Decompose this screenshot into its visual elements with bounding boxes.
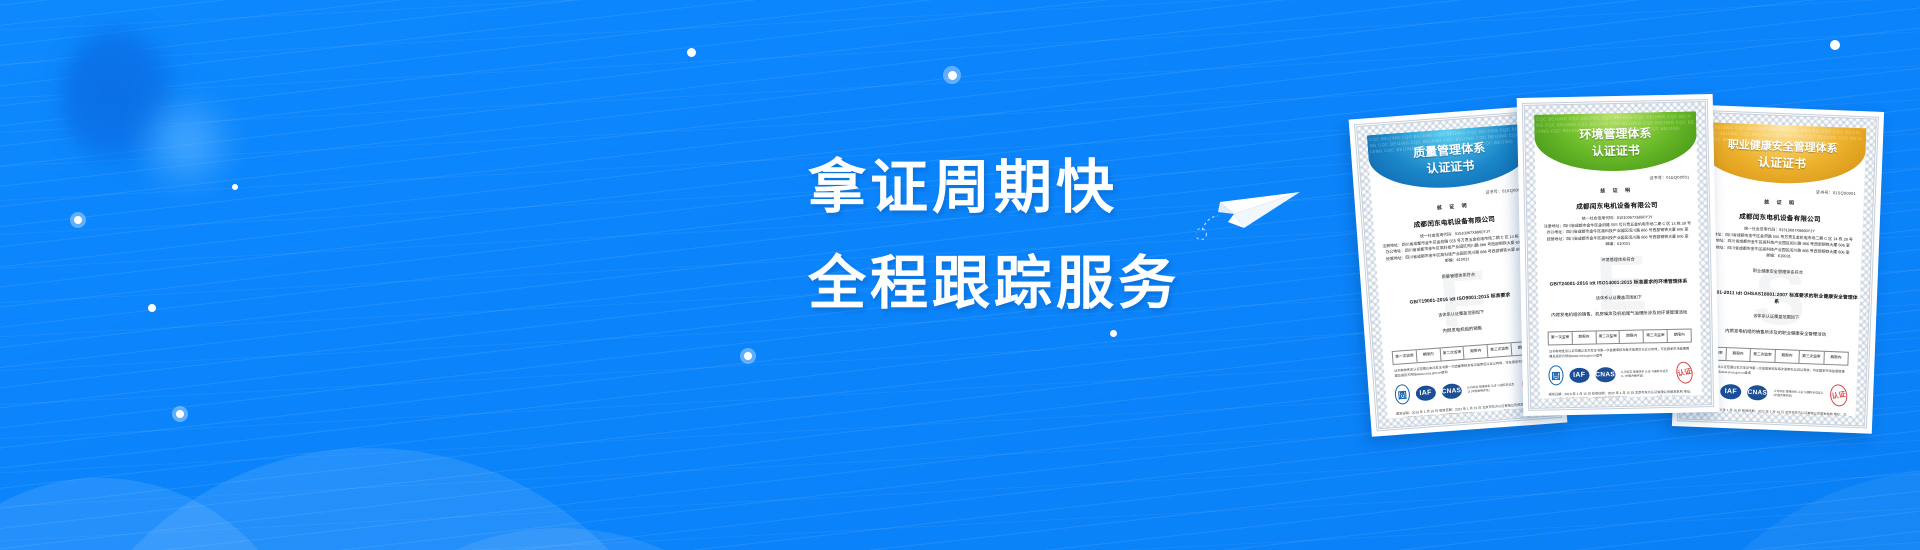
certificate-title-line-2: 认证证书 bbox=[1758, 153, 1807, 172]
decorative-dot bbox=[232, 184, 238, 190]
certificate-scope-label: 该体系认证覆盖范围如下 bbox=[1380, 305, 1542, 323]
decorative-dot bbox=[1830, 40, 1840, 50]
hero-banner: 拿证周期快 全程跟踪服务 CQC BEIJING CQC BEIJING CQC… bbox=[0, 0, 1920, 550]
table-cell: 第二次监审 bbox=[1596, 331, 1620, 343]
red-seal-icon: 认证 bbox=[1674, 360, 1695, 385]
certificate-mgmt-label: 质量管理体系符合 bbox=[1377, 267, 1539, 285]
decorative-dot-ring bbox=[943, 66, 961, 84]
certificate-company-name: 成都闰东电机设备有限公司 bbox=[1536, 198, 1698, 211]
accreditation-side-text: 认可标志 管理体系 认证 与国际多边互认 (中国合格评定) bbox=[1773, 389, 1824, 399]
certificate-header-band: CQC BEIJING CQC BEIJING CQC BEIJING CQC … bbox=[1367, 123, 1533, 193]
cnas-logo-icon: CNAS bbox=[1747, 385, 1768, 401]
headline-line-2: 全程跟踪服务 bbox=[808, 236, 1180, 332]
table-cell: 期限内 bbox=[1417, 348, 1442, 362]
iaf-logo-icon: IAF bbox=[1415, 385, 1436, 401]
certificate-scope-label: 该体系认证覆盖范围如下 bbox=[1538, 293, 1700, 302]
certificate-attest-label: 兹 证 明 bbox=[1536, 185, 1698, 195]
decorative-dot bbox=[687, 48, 696, 57]
certificate-company-details: 统一社会信用代码：91510067X6660YJY 注册地址：四川省成都市金牛区… bbox=[1695, 224, 1862, 263]
certificate-header-band: CQC BEIJING CQC BEIJING CQC BEIJING CQC … bbox=[1698, 122, 1866, 186]
table-cell: 第三次监审 bbox=[1644, 330, 1668, 342]
red-seal-icon: 认证 bbox=[1829, 383, 1849, 408]
table-cell: 第二次监审 bbox=[1440, 347, 1465, 361]
table-cell: 期限内 bbox=[1726, 348, 1751, 361]
cqc-logo-icon: 圆 bbox=[1394, 384, 1410, 405]
certificate-group: CQC BEIJING CQC BEIJING CQC BEIJING CQC … bbox=[1360, 60, 1900, 490]
decorative-dot bbox=[148, 304, 156, 312]
certificate-scope-label: 该体系认证覆盖范围如下 bbox=[1693, 311, 1859, 323]
cnas-logo-icon: CNAS bbox=[1595, 367, 1615, 382]
certificate-mgmt-label: 环境管理体系符合 bbox=[1537, 255, 1699, 264]
certificate-scope: 内燃发电机组的销售、机房噪声及机组尾气治理所涉及的环境管理活动 bbox=[1538, 308, 1700, 318]
iaf-logo-icon: IAF bbox=[1569, 367, 1589, 382]
table-cell: 期限内 bbox=[1620, 330, 1644, 342]
certificate-standard: GB/T19001-2016 idt ISO9001:2015 标准要求 bbox=[1379, 289, 1541, 308]
table-cell: 期限内 bbox=[1668, 329, 1691, 341]
certificate-standard: GB/T24001-2016 idt ISO14001:2015 标准要求的环境… bbox=[1538, 277, 1700, 287]
table-cell: 第三次监审 bbox=[1799, 351, 1824, 364]
decorative-dot-ring bbox=[70, 212, 86, 228]
certificate-environmental-management[interactable]: CQC BEIJING CQC BEIJING CQC BEIJING CQC … bbox=[1517, 94, 1720, 416]
page-title: 拿证周期快 全程跟踪服务 bbox=[808, 140, 1180, 332]
certificate-attest-label: 兹 证 明 bbox=[1697, 196, 1863, 209]
certificate-header-band: CQC BEIJING CQC BEIJING CQC BEIJING CQC … bbox=[1534, 111, 1697, 172]
cqc-logo-icon: 圆 bbox=[1548, 365, 1563, 385]
certificate-inner-border: CQC BEIJING CQC BEIJING CQC BEIJING CQC … bbox=[1522, 99, 1714, 411]
certificate-standard: GB/T28001-2011 idt OHSAS18001:2007 标准要求的… bbox=[1694, 288, 1860, 308]
certificate-mgmt-label: 职业健康安全管理体系符合 bbox=[1695, 266, 1861, 278]
table-cell: 第三次监审 bbox=[1488, 343, 1513, 357]
table-cell: 第一次监审 bbox=[1393, 350, 1418, 364]
decorative-dot-ring bbox=[172, 406, 188, 422]
headline-line-1: 拿证周期快 bbox=[808, 140, 1180, 236]
certificate-company-name: 成都闰东电机设备有限公司 bbox=[1697, 209, 1863, 225]
certificate-company-details: 统一社会信用代码：91510067X6660YJY 注册地址：四川省成都市金牛区… bbox=[1536, 213, 1699, 249]
certificate-scope: 内燃发电机组的销售 bbox=[1381, 320, 1543, 339]
decorative-light-blob bbox=[132, 88, 242, 198]
table-cell: 第二次监审 bbox=[1750, 349, 1775, 362]
certificate-accreditation-logos: 圆 IAF CNAS 认可标志 管理体系 认证 与国际多边互认 (中国合格评定)… bbox=[1539, 355, 1702, 386]
certificate-title-line-2: 认证证书 bbox=[1426, 157, 1475, 177]
accreditation-side-text: 认可标志 管理体系 认证 与国际多边互认 (中国合格评定) bbox=[1467, 382, 1517, 394]
cnas-logo-icon: CNAS bbox=[1441, 383, 1462, 399]
decorative-dot-ring bbox=[740, 348, 756, 364]
certificate-company-details: 统一社会信用代码：91510067X6660YJY 注册地址：四川省成都市金牛区… bbox=[1374, 225, 1538, 270]
certificate-title-line-2: 认证证书 bbox=[1592, 142, 1640, 160]
accreditation-side-text: 认可标志 管理体系 认证 与国际多边互认 (中国合格评定) bbox=[1621, 369, 1670, 378]
certificate-title-line-1: 环境管理体系 bbox=[1579, 124, 1651, 143]
table-cell: 期限内 bbox=[1775, 350, 1800, 363]
certificate-body: CQC BEIJING CQC BEIJING CQC BEIJING CQC … bbox=[1534, 111, 1702, 398]
paper-plane-icon bbox=[1196, 172, 1316, 252]
table-cell: 期限内 bbox=[1464, 345, 1489, 359]
table-cell: 期限内 bbox=[1824, 352, 1848, 365]
iaf-logo-icon: IAF bbox=[1720, 384, 1741, 400]
table-cell: 期限内 bbox=[1572, 331, 1596, 343]
table-cell: 第一次监审 bbox=[1549, 332, 1573, 344]
